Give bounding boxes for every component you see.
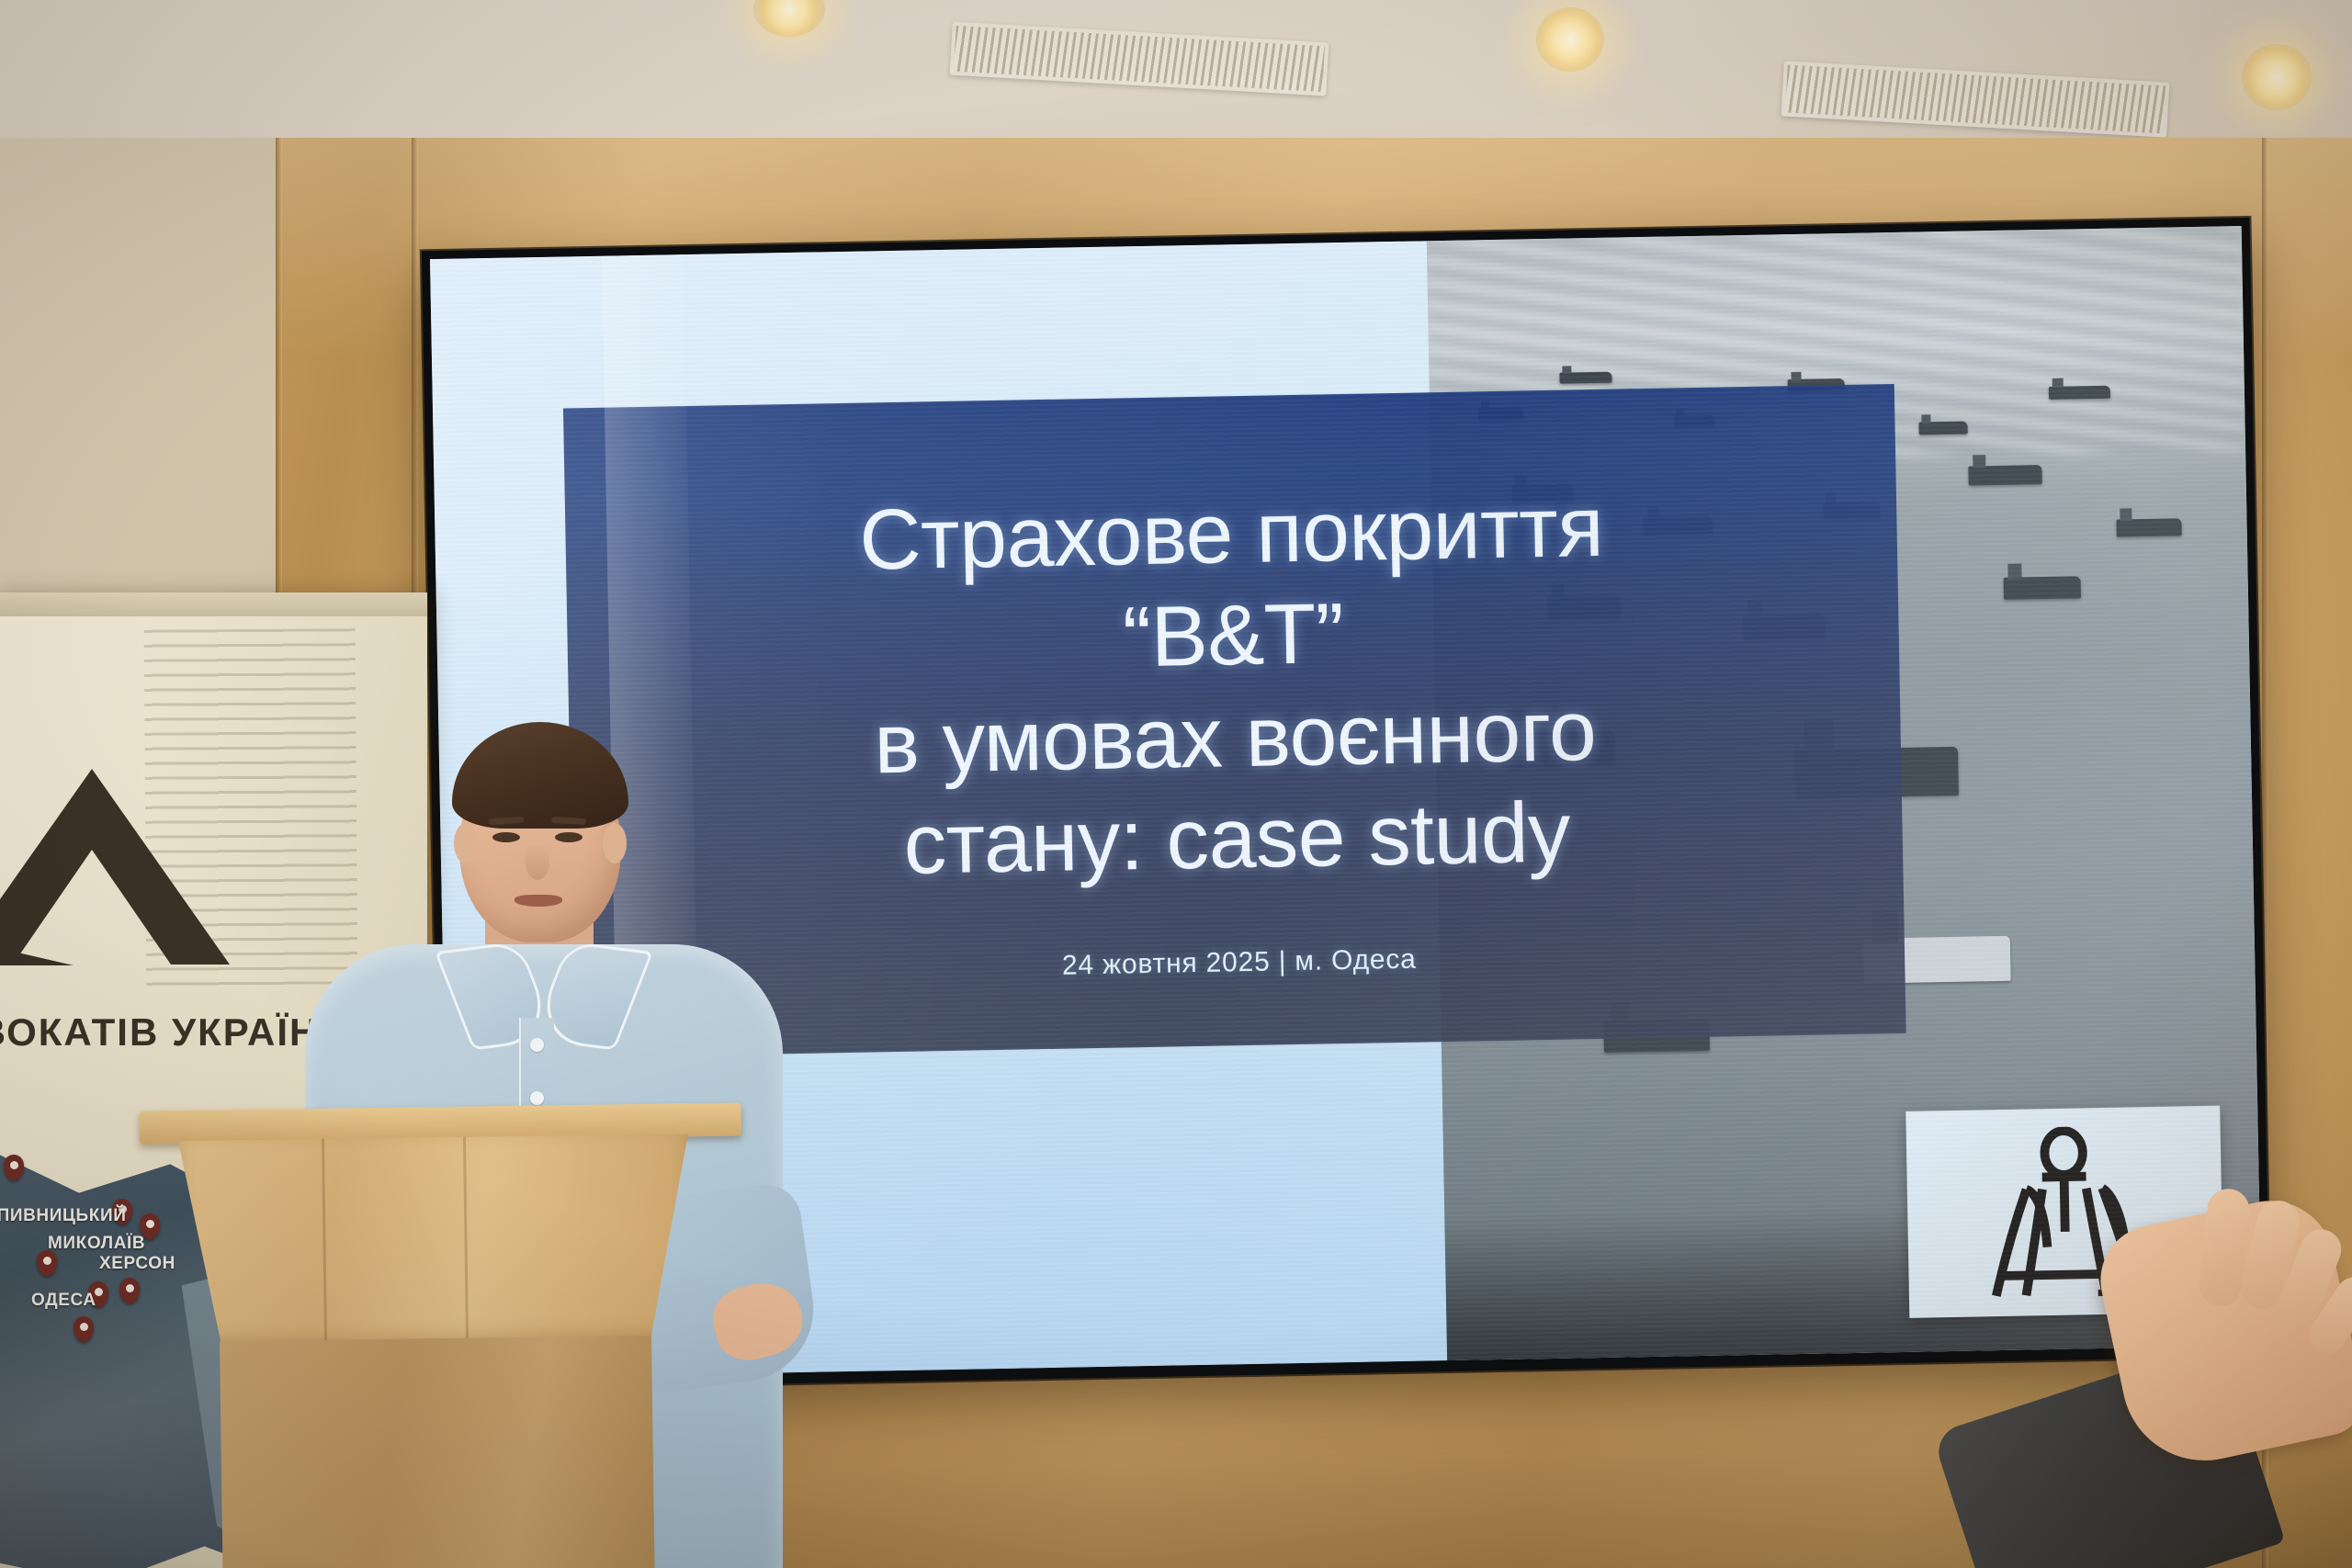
ship-silhouette [1559,372,1612,384]
wall-cream-section [0,138,276,597]
slide-footer-date-location: 24 жовтня 2025 | м. Одеса [1062,943,1417,981]
ship-silhouette [2003,576,2081,600]
audience-member-hand [1957,1194,2352,1568]
banner-top-rail [0,592,427,616]
speaker-eye [492,832,520,842]
slide-title-line-3: в умовах воєнного [873,680,1597,795]
map-label: МИКОЛАЇВ [48,1234,145,1254]
chevron-mark [0,758,230,969]
podium [140,1102,748,1568]
ship-silhouette [2049,385,2110,400]
podium-front-panel [178,1134,691,1348]
ship-silhouette [1919,422,1968,434]
speaker-ear [454,823,478,863]
ship-silhouette [2116,518,2181,537]
speaker-hair [452,722,628,829]
speaker-mouth [514,895,562,907]
shirt-button [530,1038,544,1052]
ship-silhouette [1969,465,2042,485]
ceiling-downlight [1536,7,1604,72]
map-label: ОДЕСА [31,1291,96,1311]
slide-title-line-2: “B&T” [1122,582,1344,688]
shirt-button [530,1091,544,1105]
slide-title-line-1: Страхове покриття [858,476,1604,591]
map-label: КРОПИВНИЦЬКИЙ [0,1206,126,1226]
speaker-eye [555,832,582,842]
podium-base [220,1336,655,1568]
speaker-nose [526,845,549,880]
slide-title-line-4: стану: case study [903,782,1571,896]
conference-photo-scene: Страхове покриття “B&T” в умовах воєнног… [0,0,2352,1568]
ceiling-downlight [2242,44,2312,110]
banner-title: АДВОКАТІВ УКРАЇН [0,1010,319,1055]
speaker-ear [603,823,627,863]
